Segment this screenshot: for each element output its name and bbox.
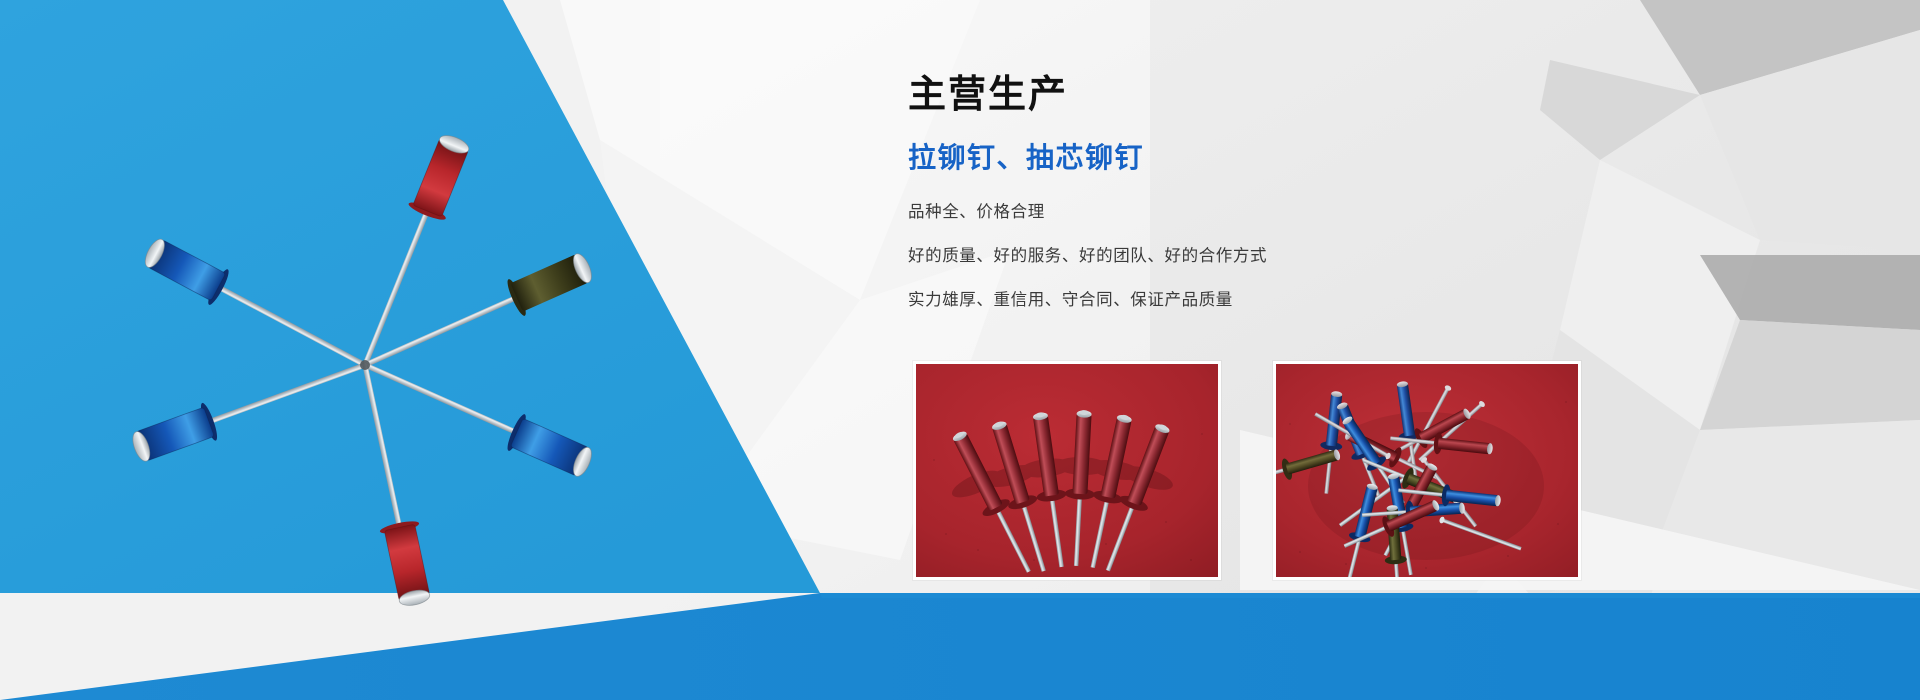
selling-point-list: 品种全、价格合理 好的质量、好的服务、好的团队、好的合作方式 实力雄厚、重信用、… <box>908 201 1608 312</box>
list-item: 好的质量、好的服务、好的团队、好的合作方式 <box>908 245 1608 267</box>
red-rivets-fan-photo[interactable] <box>913 361 1221 580</box>
list-item: 实力雄厚、重信用、守合同、保证产品质量 <box>908 289 1608 311</box>
list-item: 品种全、价格合理 <box>908 201 1608 223</box>
banner-text-block: 主营生产 拉铆钉、抽芯铆钉 品种全、价格合理 好的质量、好的服务、好的团队、好的… <box>908 72 1608 311</box>
promo-banner: 主营生产 拉铆钉、抽芯铆钉 品种全、价格合理 好的质量、好的服务、好的团队、好的… <box>0 0 1920 700</box>
red-rivets-illustration <box>916 364 1218 577</box>
photo-frame <box>1276 364 1578 577</box>
photo-frame <box>916 364 1218 577</box>
mixed-rivets-illustration <box>1276 364 1578 577</box>
product-photo-gallery <box>913 361 1581 580</box>
mixed-rivets-pile-photo[interactable] <box>1273 361 1581 580</box>
banner-subtitle: 拉铆钉、抽芯铆钉 <box>908 140 1608 175</box>
page-title: 主营生产 <box>908 72 1608 120</box>
